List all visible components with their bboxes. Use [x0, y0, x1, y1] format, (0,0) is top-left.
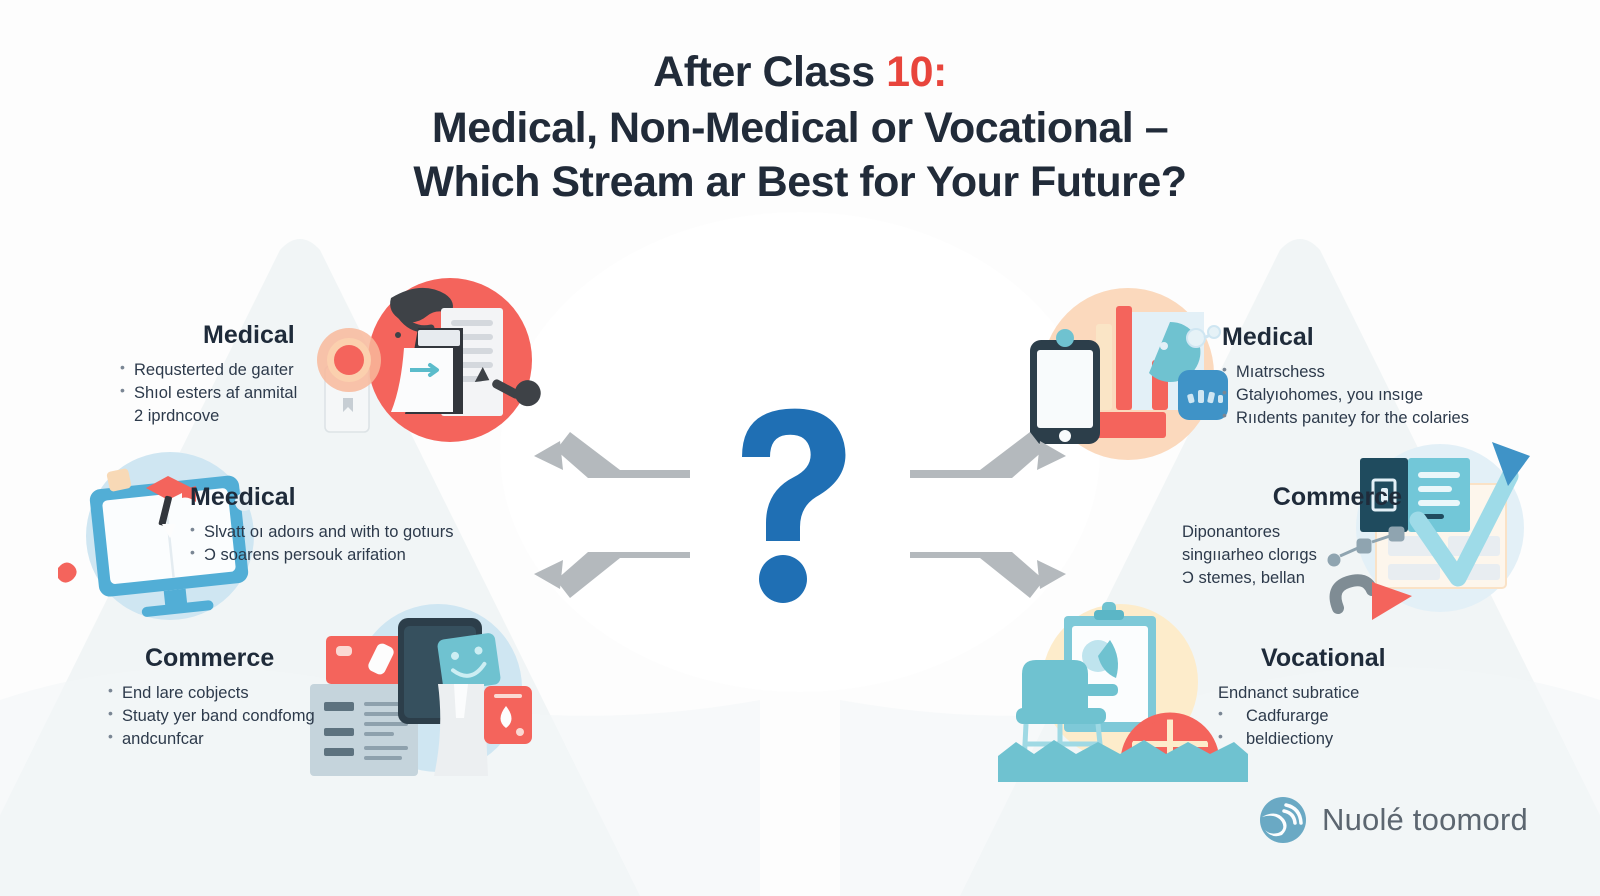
panel-heading: Medical	[1222, 324, 1562, 352]
title-line-3: Which Stream ar Best for Your Future?	[0, 158, 1600, 207]
title-line-1: After Class 10:	[0, 48, 1600, 97]
footer-logo: Nuolé toomord	[1258, 795, 1528, 845]
list-item: Rııdents panıtey for the colaries	[1222, 407, 1562, 430]
list-item: Endnanct subratice	[1218, 682, 1468, 705]
question-mark-icon	[700, 395, 880, 605]
list-item: singııarheo clorıgs	[1182, 544, 1402, 567]
list-item: andcunfcar	[108, 728, 438, 751]
question-mark-dot	[759, 555, 807, 603]
panel-bullet-list: Mıatrschess Gtalyıohomes, you ınsıge Rıı…	[1222, 361, 1562, 431]
arrow-down-left-icon	[556, 552, 690, 598]
panel-right-vocational: Vocational Endnanct subratice Cadfurarge…	[1218, 645, 1468, 752]
panel-heading: Vocational	[1218, 645, 1468, 673]
panel-bullet-list: Diponantores singııarheo clorıgs Ɔ steme…	[1182, 521, 1402, 591]
wave-swirl-logo-icon	[1258, 795, 1308, 845]
list-item: Requsterted de gaıter	[120, 359, 420, 382]
list-item: End lare cobjects	[108, 682, 438, 705]
arrow-up-right-head	[1037, 441, 1066, 470]
list-item: Slvatt oı adoırs and with to gotıurs	[190, 521, 520, 544]
list-item: Diponantores	[1182, 521, 1402, 544]
arrow-down-right-head	[1037, 560, 1066, 589]
list-item: Gtalyıohomes, you ınsıge	[1222, 384, 1562, 407]
arrow-down-right-icon	[910, 552, 1044, 598]
title-line-2: Medical, Non-Medical or Vocational –	[0, 104, 1600, 153]
panel-heading: Meedical	[190, 484, 520, 512]
list-item: beldiectiony	[1218, 728, 1468, 751]
list-item: Shıol esters af anmital	[120, 382, 420, 405]
list-item: Cadfurarge	[1218, 705, 1468, 728]
list-item: Mıatrschess	[1222, 361, 1562, 384]
list-item: 2 iprdncove	[120, 405, 420, 428]
panel-heading: Medical	[120, 322, 420, 350]
list-item: Ɔ soarens persouk arifation	[190, 544, 520, 567]
title-prefix: After Class	[653, 48, 886, 96]
panel-left-commerce: Commerce End lare cobjects Stuaty yer ba…	[108, 645, 438, 752]
panel-bullet-list: End lare cobjects Stuaty yer band condfo…	[108, 682, 438, 752]
panel-heading: Commerce	[108, 645, 438, 673]
list-item: Stuaty yer band condfomg	[108, 705, 438, 728]
arrow-down-left-head	[534, 560, 563, 589]
page-title: After Class 10: Medical, Non-Medical or …	[0, 48, 1600, 207]
arrow-up-right-icon	[910, 432, 1044, 478]
title-accent-number: 10:	[886, 48, 947, 96]
panel-left-medical: Medical Requsterted de gaıter Shıol este…	[120, 322, 420, 429]
panel-heading: Commerce	[1182, 484, 1402, 512]
logo-text: Nuolé toomord	[1322, 802, 1528, 838]
infographic-canvas: After Class 10: Medical, Non-Medical or …	[0, 0, 1600, 896]
panel-bullet-list: Requsterted de gaıter Shıol esters af an…	[120, 359, 420, 429]
arrow-up-left-head	[534, 441, 563, 470]
panel-bullet-list: Slvatt oı adoırs and with to gotıurs Ɔ s…	[190, 521, 520, 568]
panel-left-meedical: Meedical Slvatt oı adoırs and with to go…	[190, 484, 520, 567]
panel-right-medical: Medical Mıatrschess Gtalyıohomes, you ın…	[1222, 324, 1562, 431]
panel-bullet-list: Endnanct subratice Cadfurarge beldiectio…	[1218, 682, 1468, 752]
arrow-up-left-icon	[556, 432, 690, 478]
list-item: Ɔ stemes, bellan	[1182, 567, 1402, 590]
panel-right-commerce: Commerce Diponantores singııarheo clorıg…	[1182, 484, 1402, 591]
